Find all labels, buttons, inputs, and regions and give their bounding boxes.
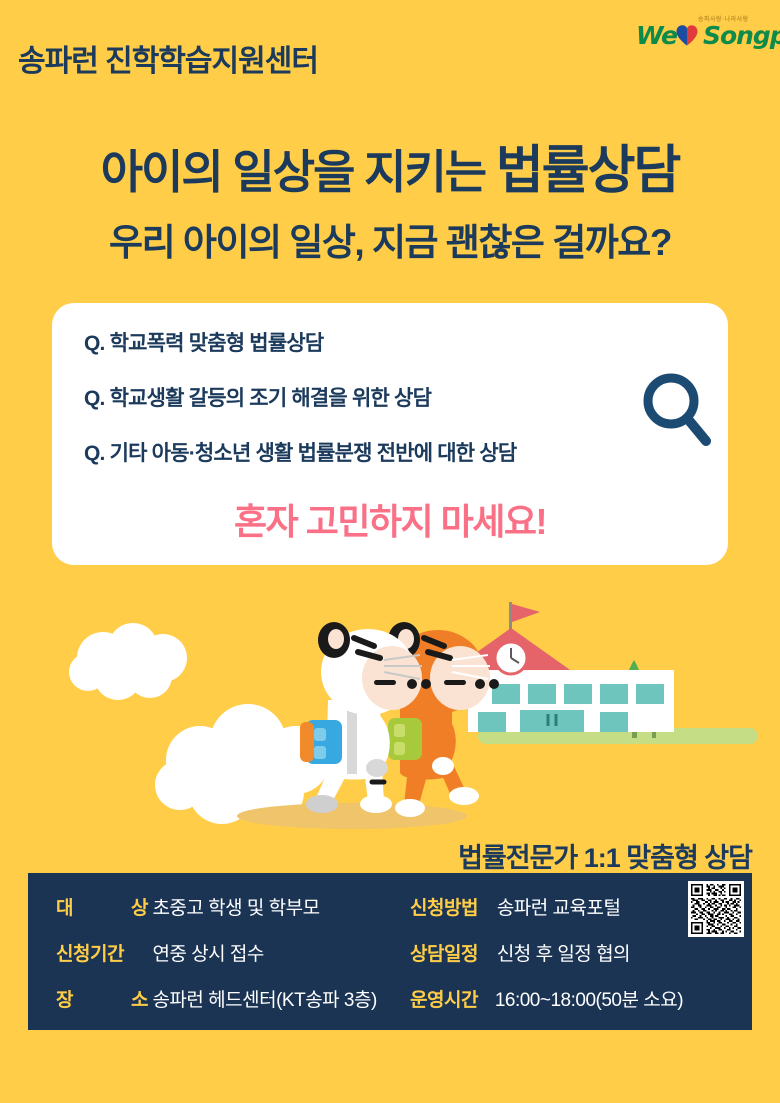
info-panel: 대 상 초중고 학생 및 학부모 신청기간 연중 상시 접수 장 소 송파런 헤…	[28, 873, 752, 1030]
info-value: 연중 상시 접수	[152, 939, 263, 966]
center-name: 송파런 진학학습지원센터	[18, 36, 318, 80]
card-cta-text: 혼자 고민하지 마세요!	[52, 493, 728, 545]
school-window	[492, 684, 664, 704]
we-songpa-word-right: Songpa	[703, 21, 780, 50]
info-value: 송파런 헤드센터(KT송파 3층)	[152, 985, 376, 1012]
info-row: 장 소 송파런 헤드센터(KT송파 3층)	[56, 985, 377, 1012]
poster-footer: 송파구 송파구청 교육협력과 02-2147-2381	[0, 1040, 780, 1103]
question-item: Q. 기타 아동·청소년 생활 법률분쟁 전반에 대한 상담	[84, 437, 516, 467]
info-row: 대 상 초중고 학생 및 학부모	[56, 893, 320, 920]
magnifier-icon	[641, 371, 713, 449]
question-card: Q. 학교폭력 맞춤형 법률상담 Q. 학교생활 갈등의 조기 해결을 위한 상…	[52, 303, 728, 565]
info-row: 운영시간 16:00~18:00(50분 소요)	[410, 985, 683, 1012]
info-label: 상담일정	[410, 939, 478, 966]
we-songpa-word-left: We	[636, 21, 677, 50]
poster-root: 송파런 진학학습지원센터 송파사랑·나라사랑 WeSongpa 아이의 일상을 …	[0, 0, 780, 1103]
we-songpa-wordmark: WeSongpa	[636, 21, 780, 50]
page-subtitle: 우리 아이의 일상, 지금 괜찮은 걸까요?	[0, 212, 780, 266]
school-flag	[512, 604, 540, 622]
page-title: 아이의 일상을 지키는 법률상담	[0, 128, 780, 203]
info-value: 신청 후 일정 협의	[497, 939, 630, 966]
page-title-normal: 아이의 일상을 지키는	[101, 146, 496, 198]
info-value: 초중고 학생 및 학부모	[152, 893, 319, 920]
info-row: 상담일정 신청 후 일정 협의	[410, 939, 630, 966]
info-label: 신청기간	[56, 939, 148, 966]
cloud-shape	[69, 623, 187, 700]
info-value: 송파런 교육포털	[497, 893, 621, 920]
we-songpa-logo: 송파사랑·나라사랑 WeSongpa	[636, 14, 768, 56]
info-label: 운영시간	[410, 985, 478, 1012]
info-label: 신청방법	[410, 893, 478, 920]
info-row: 신청기간 연중 상시 접수	[56, 939, 264, 966]
info-row: 신청방법 송파런 교육포털	[410, 893, 620, 920]
page-title-emphasis: 법률상담	[496, 142, 679, 200]
heart-icon	[675, 23, 699, 47]
poster-header: 송파런 진학학습지원센터 송파사랑·나라사랑 WeSongpa	[0, 0, 780, 100]
qr-code[interactable]	[688, 881, 744, 937]
info-value: 16:00~18:00(50분 소요)	[495, 985, 683, 1012]
expert-consult-line: 법률전문가 1:1 맞춤형 상담	[0, 836, 752, 875]
school-clock	[495, 642, 527, 674]
question-item: Q. 학교생활 갈등의 조기 해결을 위한 상담	[84, 382, 431, 412]
school-door	[520, 710, 584, 732]
question-item: Q. 학교폭력 맞춤형 법률상담	[84, 327, 323, 357]
info-label: 장 소	[56, 985, 148, 1012]
ground-shadow	[237, 803, 467, 829]
info-label: 대 상	[56, 893, 148, 920]
illustration-scene	[0, 600, 780, 850]
